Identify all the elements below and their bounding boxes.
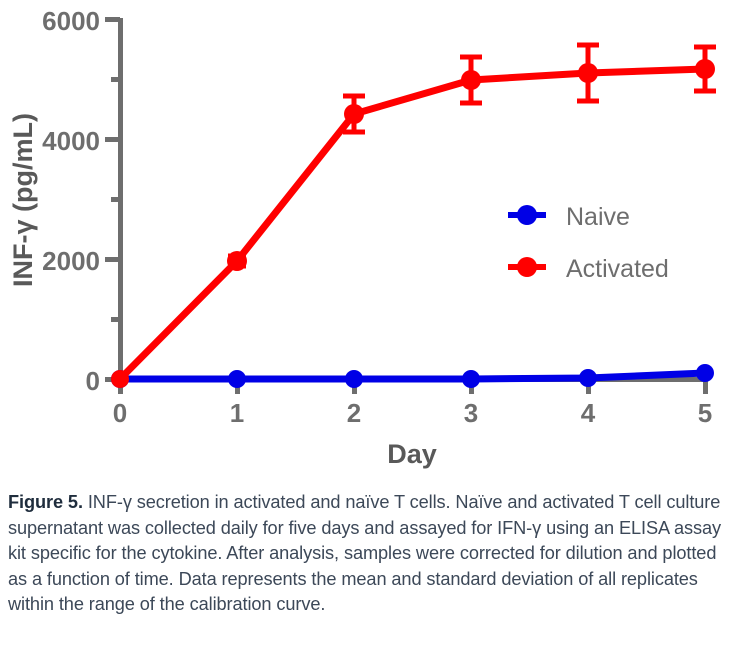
legend-marker-activated: [517, 257, 537, 277]
x-tick-label-0: 0: [113, 398, 127, 428]
x-tick-label-2: 2: [347, 398, 361, 428]
y-axis-title: INF-γ (pg/mL): [8, 113, 38, 287]
x-tick-label-4: 4: [581, 398, 596, 428]
figure-caption-text: INF-γ secretion in activated and naïve T…: [8, 492, 721, 614]
figure-panel: 6000 4000 2000 0 0 1 2 3 4 5 Day INF-γ (…: [0, 0, 735, 482]
legend-marker-naive: [517, 205, 537, 225]
x-axis-title: Day: [387, 439, 437, 469]
x-tick-label-3: 3: [464, 398, 478, 428]
activated-point-day4: [578, 63, 598, 83]
naive-line: [120, 373, 705, 379]
ifn-gamma-secretion-line-chart: 6000 4000 2000 0 0 1 2 3 4 5 Day INF-γ (…: [0, 0, 735, 482]
y-tick-label-6000: 6000: [42, 6, 100, 36]
activated-point-day5: [695, 59, 715, 79]
chart-legend: Naive Activated: [508, 203, 669, 283]
y-axis-tick-labels: 6000 4000 2000 0: [42, 6, 100, 396]
naive-point-day3: [462, 370, 480, 388]
series-naive: [111, 364, 714, 388]
activated-point-day2: [344, 104, 364, 124]
figure-caption-number: Figure 5.: [8, 492, 83, 512]
x-axis-tick-labels: 0 1 2 3 4 5: [113, 398, 712, 428]
naive-point-day5: [696, 364, 714, 382]
activated-point-day3: [461, 70, 481, 90]
naive-point-day2: [345, 370, 363, 388]
x-tick-label-5: 5: [698, 398, 712, 428]
x-tick-label-1: 1: [230, 398, 244, 428]
naive-point-day1: [228, 370, 246, 388]
figure-caption: Figure 5. INF-γ secretion in activated a…: [8, 490, 730, 618]
y-tick-label-4000: 4000: [42, 126, 100, 156]
legend-item-naive[interactable]: Naive: [508, 203, 630, 231]
legend-label-naive: Naive: [566, 203, 630, 231]
legend-label-activated: Activated: [566, 255, 669, 283]
y-tick-label-2000: 2000: [42, 246, 100, 276]
naive-point-day4: [579, 369, 597, 387]
y-tick-label-0: 0: [86, 366, 100, 396]
activated-point-day0: [111, 370, 129, 388]
activated-point-day1: [227, 251, 247, 271]
legend-item-activated[interactable]: Activated: [508, 255, 669, 283]
